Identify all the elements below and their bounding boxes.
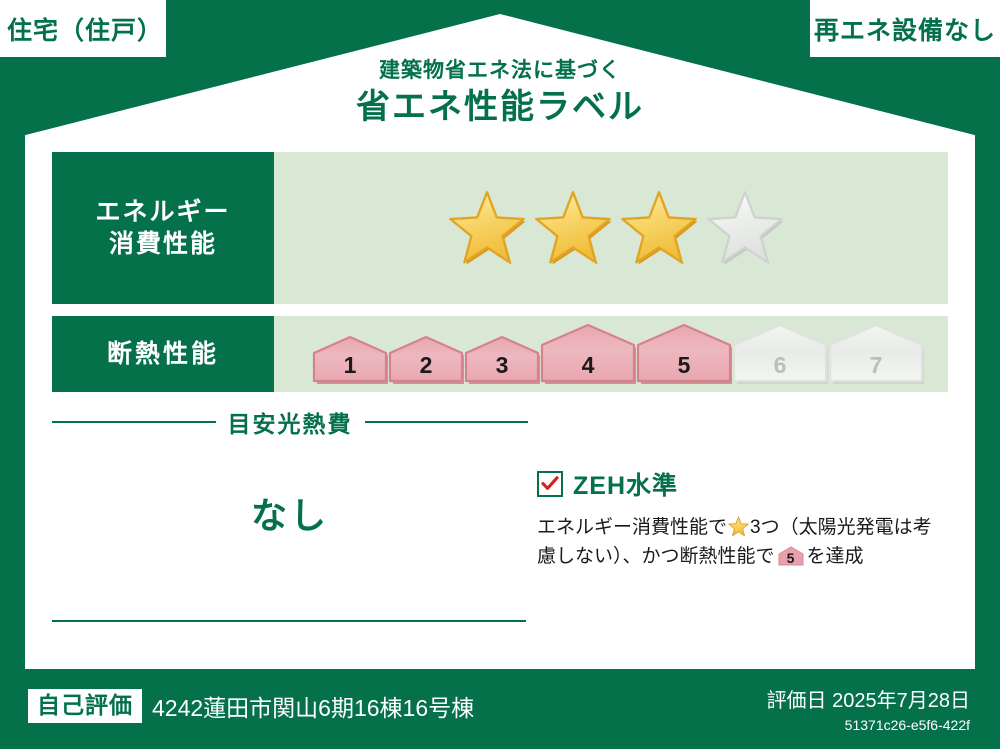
insulation-grade-number: 4 — [540, 354, 636, 377]
evaluation-date-value: 2025年7月28日 — [832, 690, 970, 712]
insulation-grade-7: 7 — [828, 323, 924, 385]
heading-rule-left — [52, 421, 216, 423]
utility-cost-value: なし — [52, 487, 528, 539]
self-evaluation-badge: 自己評価 — [28, 689, 142, 723]
insulation-grade-2: 2 — [388, 323, 464, 385]
utility-cost-bottom-rule — [52, 620, 526, 622]
insulation-grade-1: 1 — [312, 323, 388, 385]
property-address: 4242蓮田市関山6期16棟16号棟 — [152, 689, 474, 723]
evaluation-date-label: 評価日 — [767, 690, 827, 712]
zeh-standard-block: ZEH水準 エネルギー消費性能で3つ（太陽光発電は考慮しない）、かつ断熱性能で5… — [537, 466, 947, 572]
badge-renewable-energy-label: 再エネ設備なし — [814, 11, 996, 47]
star-icon-filled — [448, 189, 526, 267]
energy-performance-label: エネルギー 消費性能 — [52, 152, 274, 304]
energy-performance-row: エネルギー 消費性能 — [52, 152, 948, 304]
zeh-checkbox[interactable] — [537, 471, 563, 497]
star-icon-filled — [534, 189, 612, 267]
check-icon — [541, 475, 559, 493]
energy-performance-label-line1: エネルギー — [95, 196, 230, 229]
label-main-title: 省エネ性能ラベル — [0, 86, 1000, 129]
star-icon-filled — [620, 189, 698, 267]
insulation-performance-label: 断熱性能 — [52, 316, 274, 392]
star-icon-empty — [706, 189, 784, 267]
insulation-grade-6: 6 — [732, 323, 828, 385]
zeh-title: ZEH水準 — [573, 466, 678, 502]
footer-left-group: 自己評価 4242蓮田市関山6期16棟16号棟 — [28, 689, 474, 723]
insulation-performance-label-text: 断熱性能 — [107, 338, 219, 371]
inline-insulation-grade-number: 5 — [778, 551, 804, 565]
insulation-performance-row: 断熱性能 1234567 — [52, 316, 948, 392]
insulation-grade-number: 7 — [828, 354, 924, 377]
label-subtitle: 建築物省エネ法に基づく — [0, 58, 1000, 83]
inline-insulation-grade-badge: 5 — [778, 546, 804, 566]
insulation-grade-4: 4 — [540, 323, 636, 385]
star-icon — [728, 516, 749, 537]
utility-cost-heading: 目安光熱費 — [52, 405, 528, 439]
zeh-description: エネルギー消費性能で3つ（太陽光発電は考慮しない）、かつ断熱性能で5を達成 — [537, 513, 947, 572]
badge-building-type-label: 住宅（住戸） — [7, 11, 163, 47]
document-id: 51371c26-e5f6-422f — [767, 717, 970, 733]
energy-star-rating — [274, 152, 948, 304]
zeh-description-part1: エネルギー消費性能で — [537, 517, 727, 538]
badge-building-type: 住宅（住戸） — [0, 0, 166, 57]
insulation-grade-number: 3 — [464, 354, 540, 377]
zeh-description-part3: を達成 — [807, 546, 864, 567]
badge-renewable-energy: 再エネ設備なし — [810, 0, 1000, 57]
utility-cost-heading-text: 目安光熱費 — [228, 405, 353, 439]
insulation-grade-3: 3 — [464, 323, 540, 385]
label-title-block: 建築物省エネ法に基づく 省エネ性能ラベル — [0, 58, 1000, 129]
energy-performance-label-line2: 消費性能 — [109, 228, 217, 261]
insulation-grade-scale: 1234567 — [312, 323, 924, 385]
insulation-grade-number: 5 — [636, 354, 732, 377]
insulation-grade-number: 6 — [732, 354, 828, 377]
insulation-grade-number: 1 — [312, 354, 388, 377]
insulation-grade-5: 5 — [636, 323, 732, 385]
heading-rule-right — [365, 421, 529, 423]
evaluation-date: 評価日 2025年7月28日 — [767, 684, 970, 713]
energy-performance-label: 住宅（住戸） 再エネ設備なし 建築物省エネ法に基づく 省エネ性能ラベル エネルギ… — [0, 0, 1000, 749]
insulation-grade-number: 2 — [388, 354, 464, 377]
footer-right-group: 評価日 2025年7月28日 51371c26-e5f6-422f — [767, 684, 970, 733]
